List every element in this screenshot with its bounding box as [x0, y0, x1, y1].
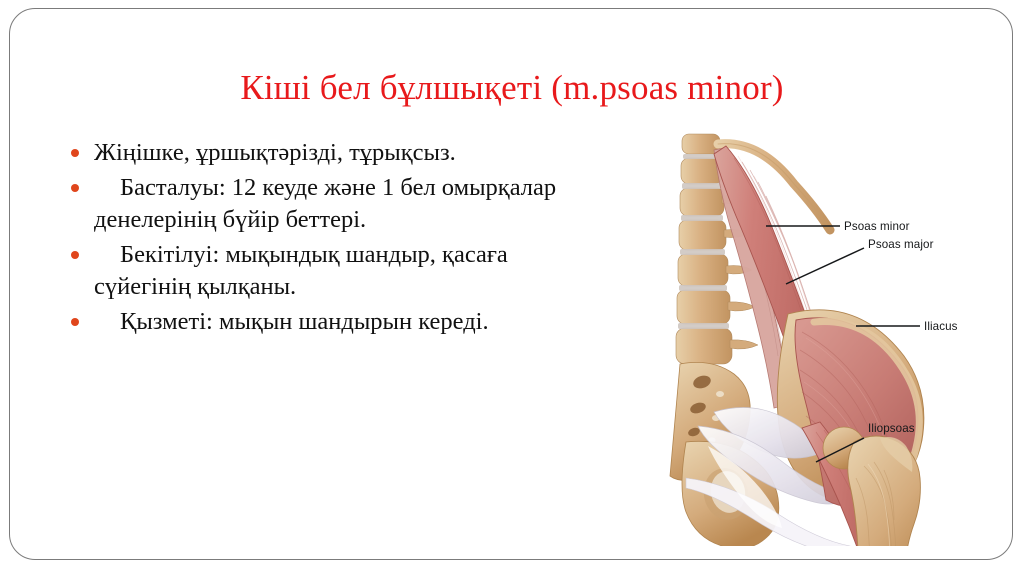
- bullet-line: сүйегінің қылқаны.: [94, 271, 663, 303]
- bullet-line: Қызметі: мықын шандырын кереді.: [94, 306, 663, 338]
- label-psoas-major: Psoas major: [868, 238, 934, 251]
- bullet-dot-icon: [71, 184, 79, 192]
- label-iliacus: Iliacus: [924, 320, 958, 333]
- bullet-line: Жіңішке, ұршықтәрізді, тұрықсыз.: [94, 137, 663, 169]
- list-item: Жіңішке, ұршықтәрізді, тұрықсыз.: [63, 137, 663, 169]
- list-item: Бекітілуі: мықындық шандыр, қасаға сүйег…: [63, 239, 663, 303]
- bullet-dot-icon: [71, 318, 79, 326]
- bullet-line: денелерінің бүйір беттері.: [94, 204, 663, 236]
- bullet-line: Бекітілуі: мықындық шандыр, қасаға: [94, 239, 663, 271]
- list-item: Басталуы: 12 кеуде және 1 бел омырқалар …: [63, 172, 663, 236]
- bullet-dot-icon: [71, 251, 79, 259]
- list-item: Қызметі: мықын шандырын кереді.: [63, 306, 663, 338]
- anatomy-illustration: Psoas minor Psoas major Iliacus Iliopsoa…: [668, 126, 1020, 546]
- label-iliopsoas: Iliopsoas: [868, 422, 915, 435]
- page-title: Кіші бел бұлшықеті (m.psoas minor): [0, 68, 1024, 108]
- bullet-line: Басталуы: 12 кеуде және 1 бел омырқалар: [94, 172, 663, 204]
- bullet-list: Жіңішке, ұршықтәрізді, тұрықсыз. Басталу…: [63, 137, 663, 341]
- bullet-dot-icon: [71, 149, 79, 157]
- label-psoas-minor: Psoas minor: [844, 220, 910, 233]
- leader-line-psoas-major: [786, 248, 864, 284]
- slide-canvas: Кіші бел бұлшықеті (m.psoas minor) Жіңіш…: [0, 0, 1024, 576]
